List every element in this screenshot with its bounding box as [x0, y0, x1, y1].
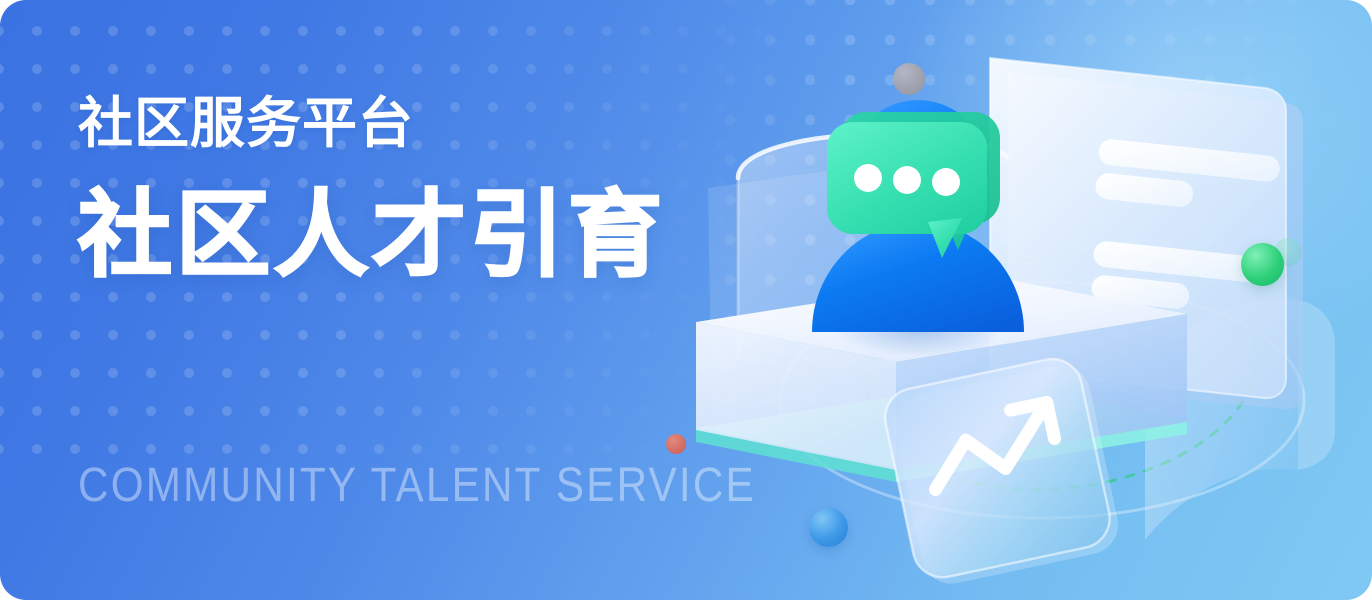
- gray-sphere: [893, 63, 925, 95]
- trending-up-chart-tile: [880, 352, 1124, 591]
- banner-headline: 社区人才引育: [78, 187, 778, 283]
- banner-eyebrow: 社区服务平台: [78, 96, 778, 151]
- chat-dot-1: [854, 164, 882, 192]
- banner-text-block: 社区服务平台 社区人才引育: [78, 96, 778, 283]
- green-sphere: [1241, 243, 1284, 286]
- red-sphere: [666, 434, 686, 454]
- community-talent-service-banner: 社区服务平台 社区人才引育 COMMUNITY TALENT SERVICE: [0, 0, 1372, 600]
- chat-dot-2: [893, 166, 921, 194]
- chat-dot-3: [932, 168, 960, 196]
- banner-subline: COMMUNITY TALENT SERVICE: [78, 462, 756, 510]
- hero-illustration: [690, 0, 1372, 600]
- blue-sphere: [809, 508, 848, 547]
